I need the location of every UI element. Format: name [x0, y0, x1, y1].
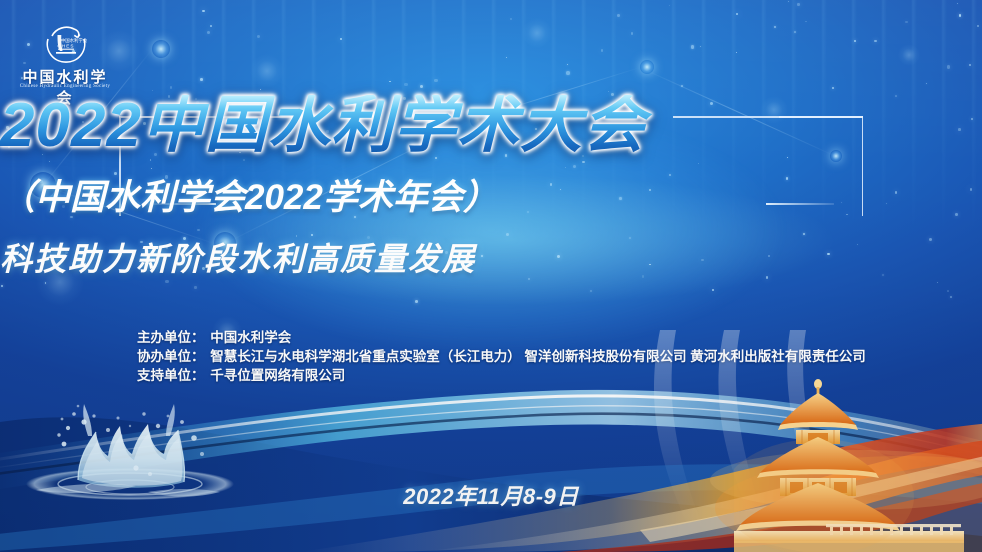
- particle-dot: [631, 32, 633, 34]
- particle-dot: [257, 35, 260, 38]
- event-date: 2022年11月8-9日: [0, 479, 982, 511]
- particle-dot: [200, 78, 203, 81]
- particle-dot: [669, 174, 671, 176]
- particle-dot: [420, 85, 423, 88]
- title-dash-right: [766, 203, 834, 205]
- bokeh-circle: [898, 44, 920, 66]
- bokeh-circle: [250, 54, 284, 88]
- bokeh-circle: [522, 18, 552, 48]
- particle-dot: [567, 64, 568, 65]
- particle-dot: [601, 49, 603, 51]
- particle-dot: [805, 21, 806, 22]
- particle-dot: [194, 286, 196, 288]
- network-node: [152, 40, 170, 58]
- particle-dot: [874, 40, 876, 42]
- particle-dot: [774, 26, 775, 27]
- particle-dot: [528, 278, 529, 279]
- particle-dot: [629, 237, 631, 239]
- particle-dot: [210, 25, 212, 27]
- page-title: 2022中国水利学术大会: [0, 95, 982, 157]
- hydraulic-society-emblem-icon: 中国水利学会 CHES: [44, 22, 88, 66]
- conference-poster: 中国水利学会 CHES 中国水利学会 Chinese Hydraulic Eng…: [0, 0, 982, 552]
- particle-dot: [1, 285, 3, 287]
- particle-dot: [832, 87, 834, 89]
- particle-dot: [700, 46, 701, 47]
- society-logo: 中国水利学会 CHES 中国水利学会 Chinese Hydraulic Eng…: [18, 22, 112, 100]
- particle-dot: [947, 65, 951, 69]
- particle-dot: [404, 83, 407, 86]
- particle-dot: [766, 276, 768, 278]
- particle-dot: [691, 45, 694, 48]
- particle-dot: [415, 300, 418, 303]
- particle-dot: [197, 229, 199, 231]
- page-slogan: 科技助力新阶段水利高质量发展: [0, 243, 982, 275]
- particle-dot: [736, 13, 738, 15]
- particle-dot: [566, 71, 570, 75]
- svg-text:CHES: CHES: [57, 43, 74, 48]
- logo-name-en: Chinese Hydraulic Engineering Society: [18, 84, 112, 89]
- particle-dot: [114, 172, 117, 175]
- particle-dot: [367, 236, 370, 239]
- particle-dot: [582, 161, 584, 163]
- particle-dot: [797, 3, 799, 5]
- temple-of-heaven-illustration: [734, 377, 964, 552]
- page-subtitle: （中国水利学会2022学术年会）: [0, 180, 982, 215]
- particle-dot: [905, 21, 908, 24]
- particle-dot: [165, 280, 168, 283]
